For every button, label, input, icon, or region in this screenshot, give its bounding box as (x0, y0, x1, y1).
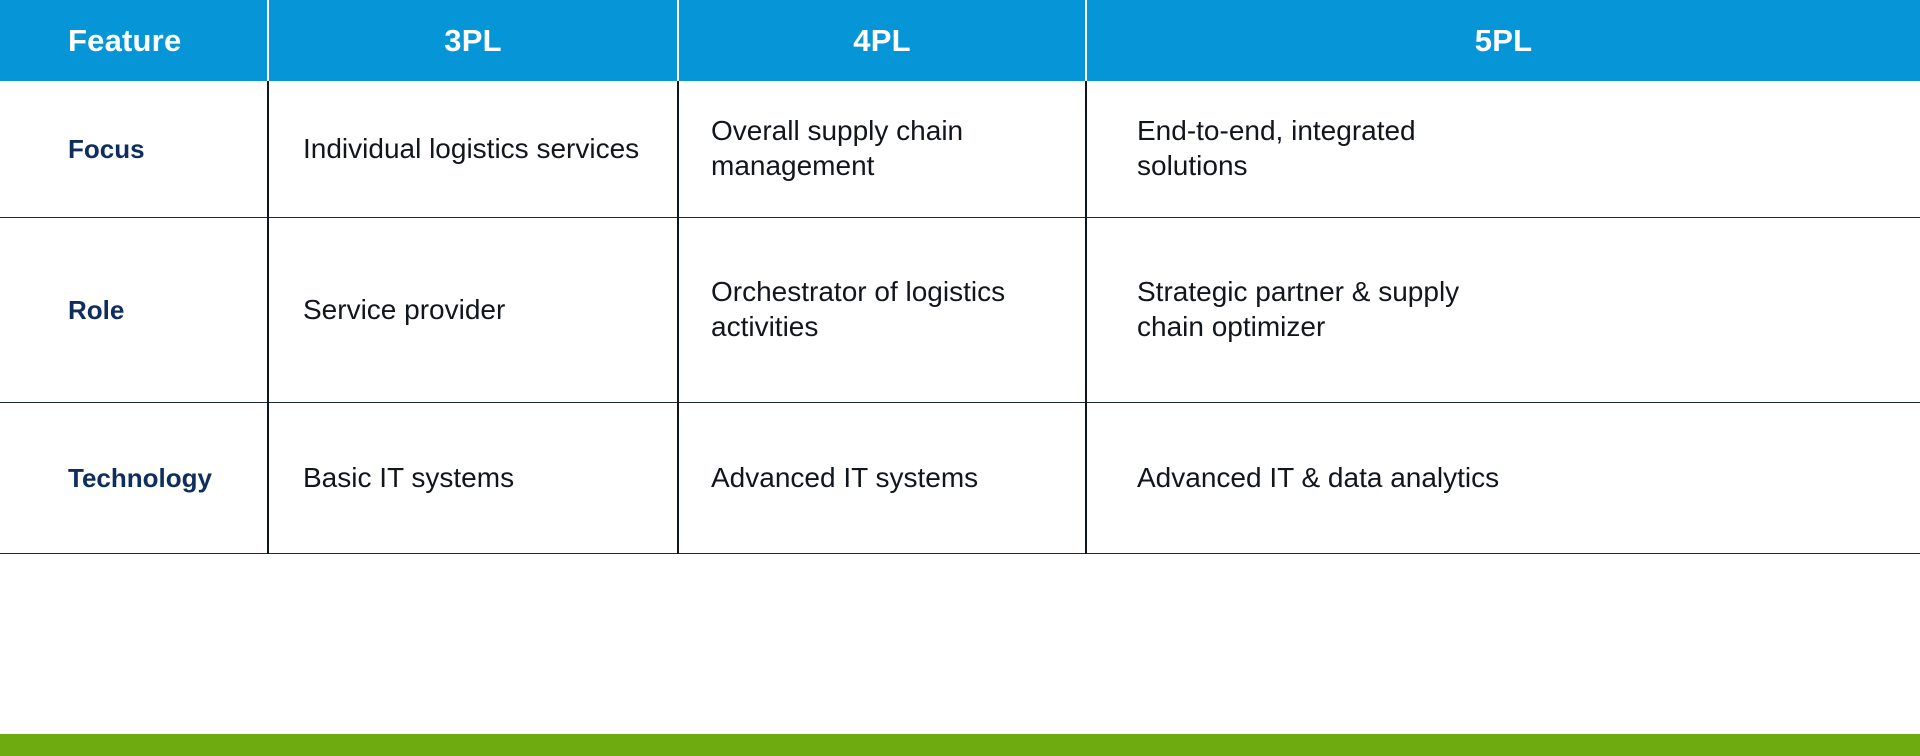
table-header: Feature 3PL 4PL 5PL (0, 0, 1920, 81)
page-root: Feature 3PL 4PL 5PL Focus Individual log… (0, 0, 1920, 756)
cell-text: Advanced IT systems (711, 461, 1051, 496)
cell-text: Advanced IT & data analytics (1137, 461, 1517, 496)
column-header-3pl: 3PL (268, 0, 678, 81)
column-header-feature: Feature (0, 0, 268, 81)
table-row: Technology Basic IT systems Advanced IT … (0, 403, 1920, 554)
cell-text: Orchestrator of logistics activities (711, 275, 1051, 344)
cell-role-4pl: Orchestrator of logistics activities (678, 218, 1086, 403)
row-label-focus: Focus (0, 81, 268, 218)
table-row: Focus Individual logistics services Over… (0, 81, 1920, 218)
cell-focus-4pl: Overall supply chain management (678, 81, 1086, 218)
cell-text: End-to-end, integrated solutions (1137, 114, 1517, 183)
cell-technology-4pl: Advanced IT systems (678, 403, 1086, 554)
cell-focus-3pl: Individual logistics services (268, 81, 678, 218)
column-header-4pl: 4PL (678, 0, 1086, 81)
column-header-5pl: 5PL (1086, 0, 1920, 81)
cell-text: Service provider (303, 293, 643, 328)
cell-technology-3pl: Basic IT systems (268, 403, 678, 554)
content-spacer (0, 603, 1920, 734)
comparison-table: Feature 3PL 4PL 5PL Focus Individual log… (0, 0, 1920, 554)
table-body: Focus Individual logistics services Over… (0, 81, 1920, 554)
cell-focus-5pl: End-to-end, integrated solutions (1086, 81, 1920, 218)
row-label-role: Role (0, 218, 268, 403)
row-label-technology: Technology (0, 403, 268, 554)
cell-role-3pl: Service provider (268, 218, 678, 403)
table-row: Role Service provider Orchestrator of lo… (0, 218, 1920, 403)
cell-technology-5pl: Advanced IT & data analytics (1086, 403, 1920, 554)
cell-text: Individual logistics services (303, 132, 643, 167)
cell-text: Strategic partner & supply chain optimiz… (1137, 275, 1517, 344)
cell-text: Basic IT systems (303, 461, 643, 496)
footer-accent-bar (0, 734, 1920, 756)
cell-text: Overall supply chain management (711, 114, 1051, 183)
header-row: Feature 3PL 4PL 5PL (0, 0, 1920, 81)
cell-role-5pl: Strategic partner & supply chain optimiz… (1086, 218, 1920, 403)
